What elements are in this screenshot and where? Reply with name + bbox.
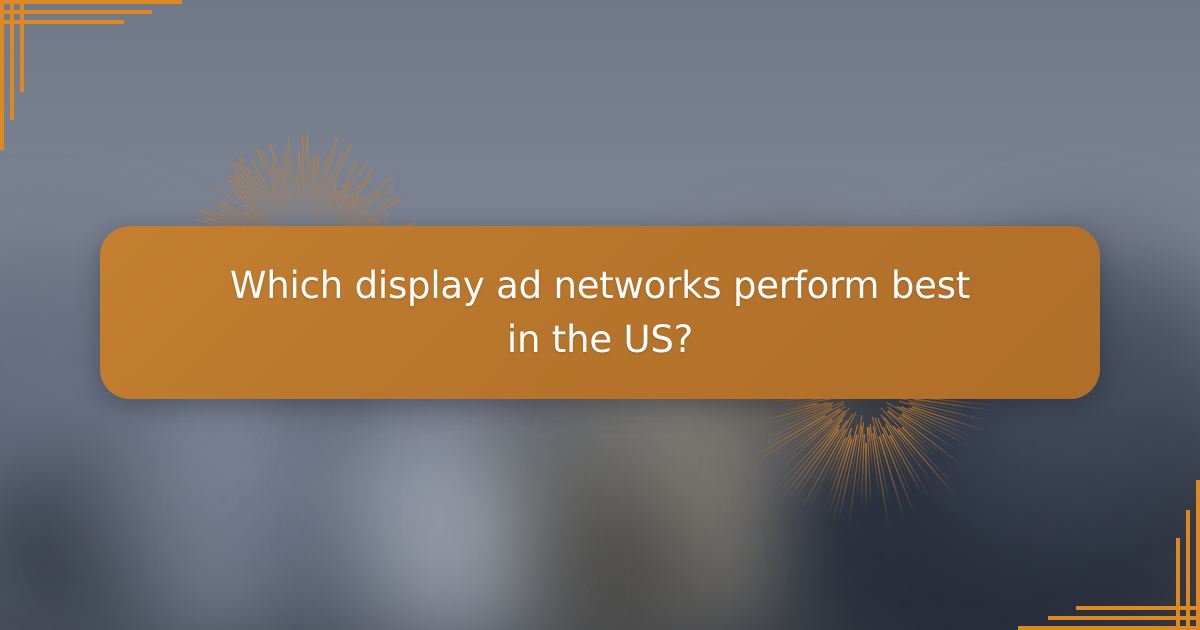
bottom-right-corner-ornament — [990, 480, 1200, 630]
bracket-line-vertical — [10, 0, 14, 120]
bracket-line-vertical — [20, 0, 24, 92]
bracket-line-horizontal — [0, 20, 124, 24]
share-card-canvas: Which display ad networks perform best i… — [0, 0, 1200, 630]
top-left-corner-ornament — [0, 0, 210, 150]
bracket-line-horizontal — [1076, 606, 1200, 610]
bracket-line-vertical — [1186, 510, 1190, 630]
headline-card: Which display ad networks perform best i… — [100, 226, 1100, 399]
bracket-line-vertical — [1176, 538, 1180, 630]
page-title: Which display ad networks perform best i… — [220, 259, 980, 366]
bracket-line-horizontal — [1018, 626, 1200, 630]
bracket-line-horizontal — [0, 0, 182, 4]
